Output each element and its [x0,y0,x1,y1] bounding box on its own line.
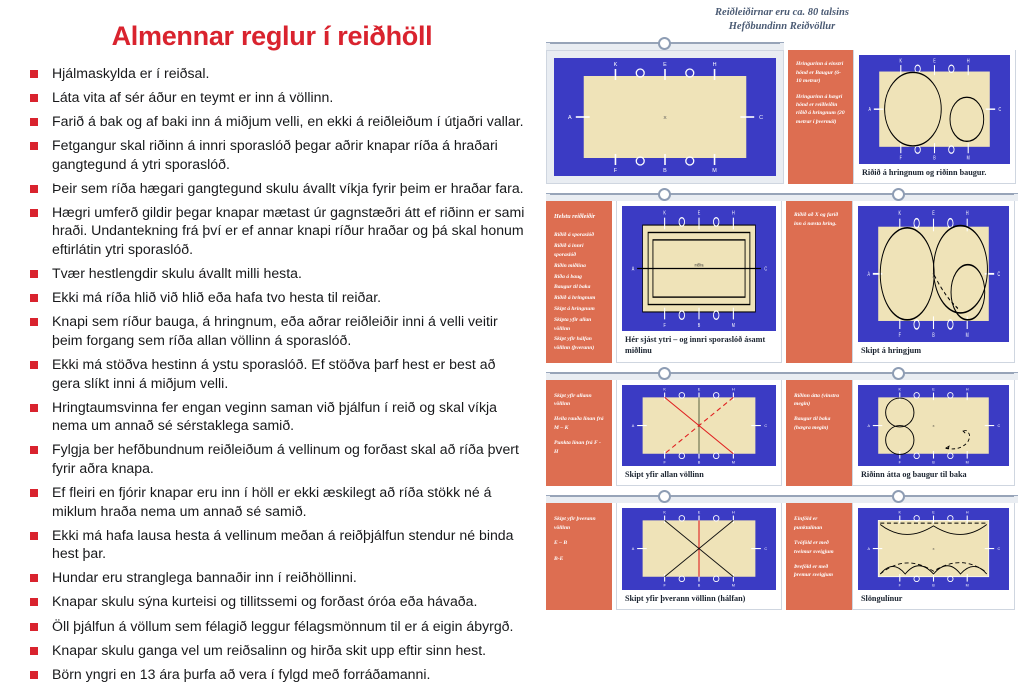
svg-text:E: E [698,387,701,391]
list-item: Knapar skulu ganga vel um reiðsalinn og … [18,641,526,660]
arena-svg: K E H F B M A C [622,508,776,589]
svg-text:C: C [759,115,763,121]
list-item: Hægri umferð gildir þegar knapar mætast … [18,203,526,259]
list-item: Knapar skulu sýna kurteisi og tillitssem… [18,592,526,611]
svg-text:M: M [966,460,969,464]
panel-caption: Slöngulínur [858,590,1009,606]
bullet-icon [30,270,38,278]
bullet-icon [30,671,38,679]
svg-text:F: F [663,584,666,588]
sidebar-title: Skipt yfir allann völlinn [554,392,605,409]
sidebar-line: Riðið á sporaslóð [554,231,605,239]
rules-column: Almennar reglur í reiðhöll Hjálmaskylda … [0,0,540,686]
sidebar-line: Einföld er punktalínan [794,515,845,532]
panel-row4-left: K E H F B M A C Skipt y [616,503,782,610]
svg-text:H: H [732,511,735,515]
panel-sidebar-row1-right: Hringurinn á einstri hönd er Baugur (6-1… [788,50,853,184]
bullet-icon [30,623,38,631]
svg-text:A: A [568,115,572,121]
bullet-icon [30,318,38,326]
svg-text:C: C [999,107,1002,113]
bullet-icon [30,185,38,193]
svg-text:H: H [966,211,969,218]
arena-diagram-slongulinur: K E H F B M A C X [858,508,1009,589]
diagrams-header: Reiðleiðirnar eru ca. 80 talsins Hefðbun… [540,6,1024,34]
panel-row1-right: K E H F B M A C Riðið á hringnum og ri [853,50,1016,184]
rule-text: Knapar skulu sýna kurteisi og tillitssem… [52,592,526,611]
svg-text:F: F [900,155,903,161]
bullet-icon [30,574,38,582]
svg-text:K: K [663,387,666,391]
rule-text: Þeir sem ríða hægari gangtegund skulu áv… [52,179,526,198]
diagram-row-2: Helstu reiðleiðir Riðið á sporaslóð Riði… [540,188,1024,362]
panel-main-arena: K E H F B M A C X [546,50,784,184]
panel-row4-right: K E H F B M A C X [852,503,1015,610]
sidebar-line: Heila rauða línan frá M – K [554,415,605,432]
svg-text:A: A [868,272,871,279]
panel-row3-left: K E H F B M A C Skipt y [616,380,782,487]
arena-svg: K E H F B M A C X [858,385,1009,466]
svg-text:C: C [764,547,767,551]
svg-text:K: K [899,387,902,391]
panel-row2-right: K E H F B M A C X [852,201,1015,362]
rule-text: Knapi sem ríður bauga, á hringnum, eða a… [52,312,526,349]
sidebar-line: Skipta yfir allan völlinn [554,316,605,333]
bullet-icon [30,70,38,78]
svg-text:miðlína: miðlína [695,262,704,268]
poster-page: Almennar reglur í reiðhöll Hjálmaskylda … [0,0,1024,686]
arena-diagram-skipt-hringjum: K E H F B M A C X [858,206,1009,342]
svg-text:F: F [899,584,902,588]
sidebar-line: Riðinn átta (vinstra megin) [794,392,845,409]
svg-text:X: X [932,424,934,428]
svg-text:K: K [663,210,666,217]
svg-text:K: K [663,511,666,515]
arena-svg-main: K E H F B M A C X [554,58,776,176]
arena-svg: K E H F B M A C [622,385,776,466]
svg-text:B: B [698,322,701,329]
list-item: Knapi sem ríður bauga, á hringnum, eða a… [18,312,526,349]
header-line-2: Hefðbundinn Reiðvöllur [540,20,1024,34]
svg-text:C: C [764,424,767,428]
svg-text:M: M [966,333,969,340]
svg-text:X: X [932,547,934,551]
svg-text:H: H [732,387,735,391]
svg-text:B: B [698,584,701,588]
panel-row3-right: K E H F B M A C X [852,380,1015,487]
list-item: Ekki má hafa lausa hesta á vellinum meða… [18,526,526,563]
panel-caption: Hér sjást ytri – og innri sporaslóð ásam… [622,331,776,357]
header-line-1: Reiðleiðirnar eru ca. 80 talsins [540,6,1024,20]
arena-svg: K E H F B M A C [859,55,1010,163]
svg-text:B: B [932,333,935,340]
sidebar-title: Skipt yfir þverann völlinn [554,515,605,532]
sidebar-line: Baugur til baka (hægra megin) [794,415,845,432]
panel-caption: Riðið á hringnum og riðinn baugur. [859,164,1010,180]
rule-text: Fetgangur skal riðinn á innri sporaslóð … [52,136,526,173]
svg-text:F: F [663,322,665,329]
sidebar-line: Skipt yfir hálfan völlinn (þverann) [554,335,605,352]
sidebar-line: Baugur til baka [554,283,605,291]
list-item: Hjálmaskylda er í reiðsal. [18,64,526,83]
svg-text:M: M [732,322,735,329]
svg-text:B: B [933,155,936,161]
svg-text:E: E [698,511,701,515]
svg-text:H: H [966,511,969,515]
arena-diagram-thverann: K E H F B M A C [622,508,776,589]
list-item: Ef fleiri en fjórir knapar eru inn í höl… [18,483,526,520]
sidebar-line: Hringurinn á einstri hönd er Baugur (6-1… [796,60,846,85]
list-item: Fylgja ber hefðbundnum reiðleiðum á vell… [18,440,526,477]
panel-caption: Riðinn átta og baugur til baka [858,466,1009,482]
sidebar-line: Riðin miðlína [554,262,605,270]
rule-text: Ekki má ríða hlið við hlið eða hafa tvo … [52,288,526,307]
rules-list: Hjálmaskylda er í reiðsal. Láta vita af … [18,64,526,684]
bullet-icon [30,361,38,369]
list-item: Þeir sem ríða hægari gangtegund skulu áv… [18,179,526,198]
svg-text:E: E [663,62,667,68]
panel-sidebar-row3-right: Riðinn átta (vinstra megin) Baugur til b… [786,380,852,487]
panel-sidebar-row4-right: Einföld er punktalínan Tvöföld er með tv… [786,503,852,610]
bullet-icon [30,118,38,126]
list-item: Ekki má stöðva hestinn á ystu sporaslóð.… [18,355,526,392]
rule-text: Láta vita af sér áður en teymt er inn á … [52,88,526,107]
sidebar-line: B-E [554,555,605,563]
rule-text: Ekki má stöðva hestinn á ystu sporaslóð.… [52,355,526,392]
panel-sidebar-row3-left: Skipt yfir allann völlinn Heila rauða lí… [546,380,612,487]
svg-text:A: A [632,424,635,428]
rule-text: Tvær hestlengdir skulu ávallt milli hest… [52,264,526,283]
rule-text: Hringtaumsvinna fer engan veginn saman v… [52,398,526,435]
bullet-icon [30,489,38,497]
arena-diagram-main: K E H F B M A C X [554,58,776,176]
list-item: Ekki má ríða hlið við hlið eða hafa tvo … [18,288,526,307]
list-item: Farið á bak og af baki inn á miðjum vell… [18,112,526,131]
svg-text:H: H [732,210,735,217]
svg-text:X: X [932,273,934,279]
arena-diagram-atta-baugur: K E H F B M A C X [858,385,1009,466]
bullet-icon [30,532,38,540]
panel-row2-left: K E H F B M A C miðlína Hér sjást ytri –… [616,201,782,362]
svg-text:M: M [732,460,735,464]
panel-caption: Skipt á hringjum [858,342,1009,358]
sidebar-line: Riða á baug [554,273,605,281]
rule-text: Ekki má hafa lausa hesta á vellinum meða… [52,526,526,563]
panel-sidebar-row2-right: Riðið að X og farið inn á næsta hring. [786,201,852,362]
sidebar-line: Skipt á hringnum [554,305,605,313]
svg-text:M: M [712,168,717,174]
sidebar-line: Riðið að X og farið inn á næsta hring. [794,211,845,228]
diagram-row-4: Skipt yfir þverann völlinn E – B B-E [540,490,1024,610]
svg-text:K: K [899,511,902,515]
svg-text:C: C [764,266,767,273]
rule-text: Hjálmaskylda er í reiðsal. [52,64,526,83]
svg-text:M: M [967,155,970,161]
svg-text:E: E [933,58,936,64]
sidebar-line: E – B [554,539,605,547]
svg-text:F: F [899,333,901,340]
svg-text:E: E [932,511,935,515]
svg-text:H: H [713,62,717,68]
panel-caption: Skipt yfir allan völlinn [622,466,776,482]
svg-text:C: C [998,424,1001,428]
bullet-icon [30,598,38,606]
rule-text: Fylgja ber hefðbundnum reiðleiðum á vell… [52,440,526,477]
svg-text:K: K [614,62,618,68]
svg-text:B: B [932,460,935,464]
svg-text:C: C [998,547,1001,551]
arena-diagram-sporaslod: K E H F B M A C miðlína [622,206,776,331]
arena-diagram-skipt-allan: K E H F B M A C [622,385,776,466]
sidebar-line: Punkta línan frá F - H [554,439,605,456]
svg-text:A: A [869,107,872,113]
svg-text:A: A [868,424,871,428]
sidebar-title: Helstu reiðleiðir [554,213,605,222]
list-item: Láta vita af sér áður en teymt er inn á … [18,88,526,107]
diagram-grid: K E H F B M A C X Hringuri [540,37,1024,610]
list-item: Öll þjálfun á völlum sem félagið leggur … [18,617,526,636]
svg-text:B: B [698,460,701,464]
sidebar-line: Riðið á innri sporaslóð [554,242,605,259]
rule-text: Ef fleiri en fjórir knapar eru inn í höl… [52,483,526,520]
svg-text:A: A [632,266,635,273]
arena-svg: K E H F B M A C X [858,508,1009,589]
sidebar-line: Tvöföld er með tveimur sveigjum [794,539,845,556]
sidebar-line: Hringurinn á hægri hönd er reiðleiðin ri… [796,93,846,127]
svg-text:E: E [932,211,935,218]
svg-text:F: F [899,460,902,464]
svg-text:E: E [932,387,935,391]
svg-text:H: H [967,58,970,64]
rule-text: Börn yngri en 13 ára þurfa að vera í fyl… [52,665,526,684]
svg-text:F: F [614,168,618,174]
bullet-icon [30,294,38,302]
svg-text:M: M [732,584,735,588]
svg-text:A: A [868,547,871,551]
diagram-row-1: K E H F B M A C X Hringuri [540,37,1024,184]
svg-text:K: K [899,211,902,218]
sidebar-line: Þreföld er með þremur sveigjum [794,563,845,580]
svg-text:M: M [966,584,969,588]
sidebar-line: Riðið á hringnum [554,294,605,302]
bullet-icon [30,94,38,102]
bullet-icon [30,142,38,150]
rule-text: Farið á bak og af baki inn á miðjum vell… [52,112,526,131]
bullet-icon [30,209,38,217]
panel-sidebar-row2-left: Helstu reiðleiðir Riðið á sporaslóð Riði… [546,201,612,362]
rule-text: Hundar eru stranglega bannaðir inn í rei… [52,568,526,587]
bullet-icon [30,404,38,412]
arena-svg: K E H F B M A C miðlína [622,206,776,331]
diagrams-column: Reiðleiðirnar eru ca. 80 talsins Hefðbun… [540,0,1024,686]
bullet-icon [30,647,38,655]
list-item: Fetgangur skal riðinn á innri sporaslóð … [18,136,526,173]
arena-svg: K E H F B M A C X [858,206,1009,342]
svg-text:B: B [663,168,667,174]
rule-text: Öll þjálfun á völlum sem félagið leggur … [52,617,526,636]
panel-sidebar-row4-left: Skipt yfir þverann völlinn E – B B-E [546,503,612,610]
rule-text: Hægri umferð gildir þegar knapar mætast … [52,203,526,259]
list-item: Hringtaumsvinna fer engan veginn saman v… [18,398,526,435]
svg-text:K: K [900,58,903,64]
svg-text:F: F [663,460,666,464]
rule-text: Knapar skulu ganga vel um reiðsalinn og … [52,641,526,660]
panel-caption: Skipt yfir þverann völlinn (hálfan) [622,590,776,606]
list-item: Tvær hestlengdir skulu ávallt milli hest… [18,264,526,283]
list-item: Börn yngri en 13 ára þurfa að vera í fyl… [18,665,526,684]
svg-text:E: E [698,210,701,217]
bullet-icon [30,446,38,454]
svg-text:A: A [632,547,635,551]
svg-text:B: B [932,584,935,588]
svg-text:H: H [966,387,969,391]
arena-diagram-hringur-baugur: K E H F B M A C [859,55,1010,163]
page-title: Almennar reglur í reiðhöll [18,22,526,52]
svg-text:C: C [998,272,1001,279]
list-item: Hundar eru stranglega bannaðir inn í rei… [18,568,526,587]
diagram-row-3: Skipt yfir allann völlinn Heila rauða lí… [540,367,1024,487]
